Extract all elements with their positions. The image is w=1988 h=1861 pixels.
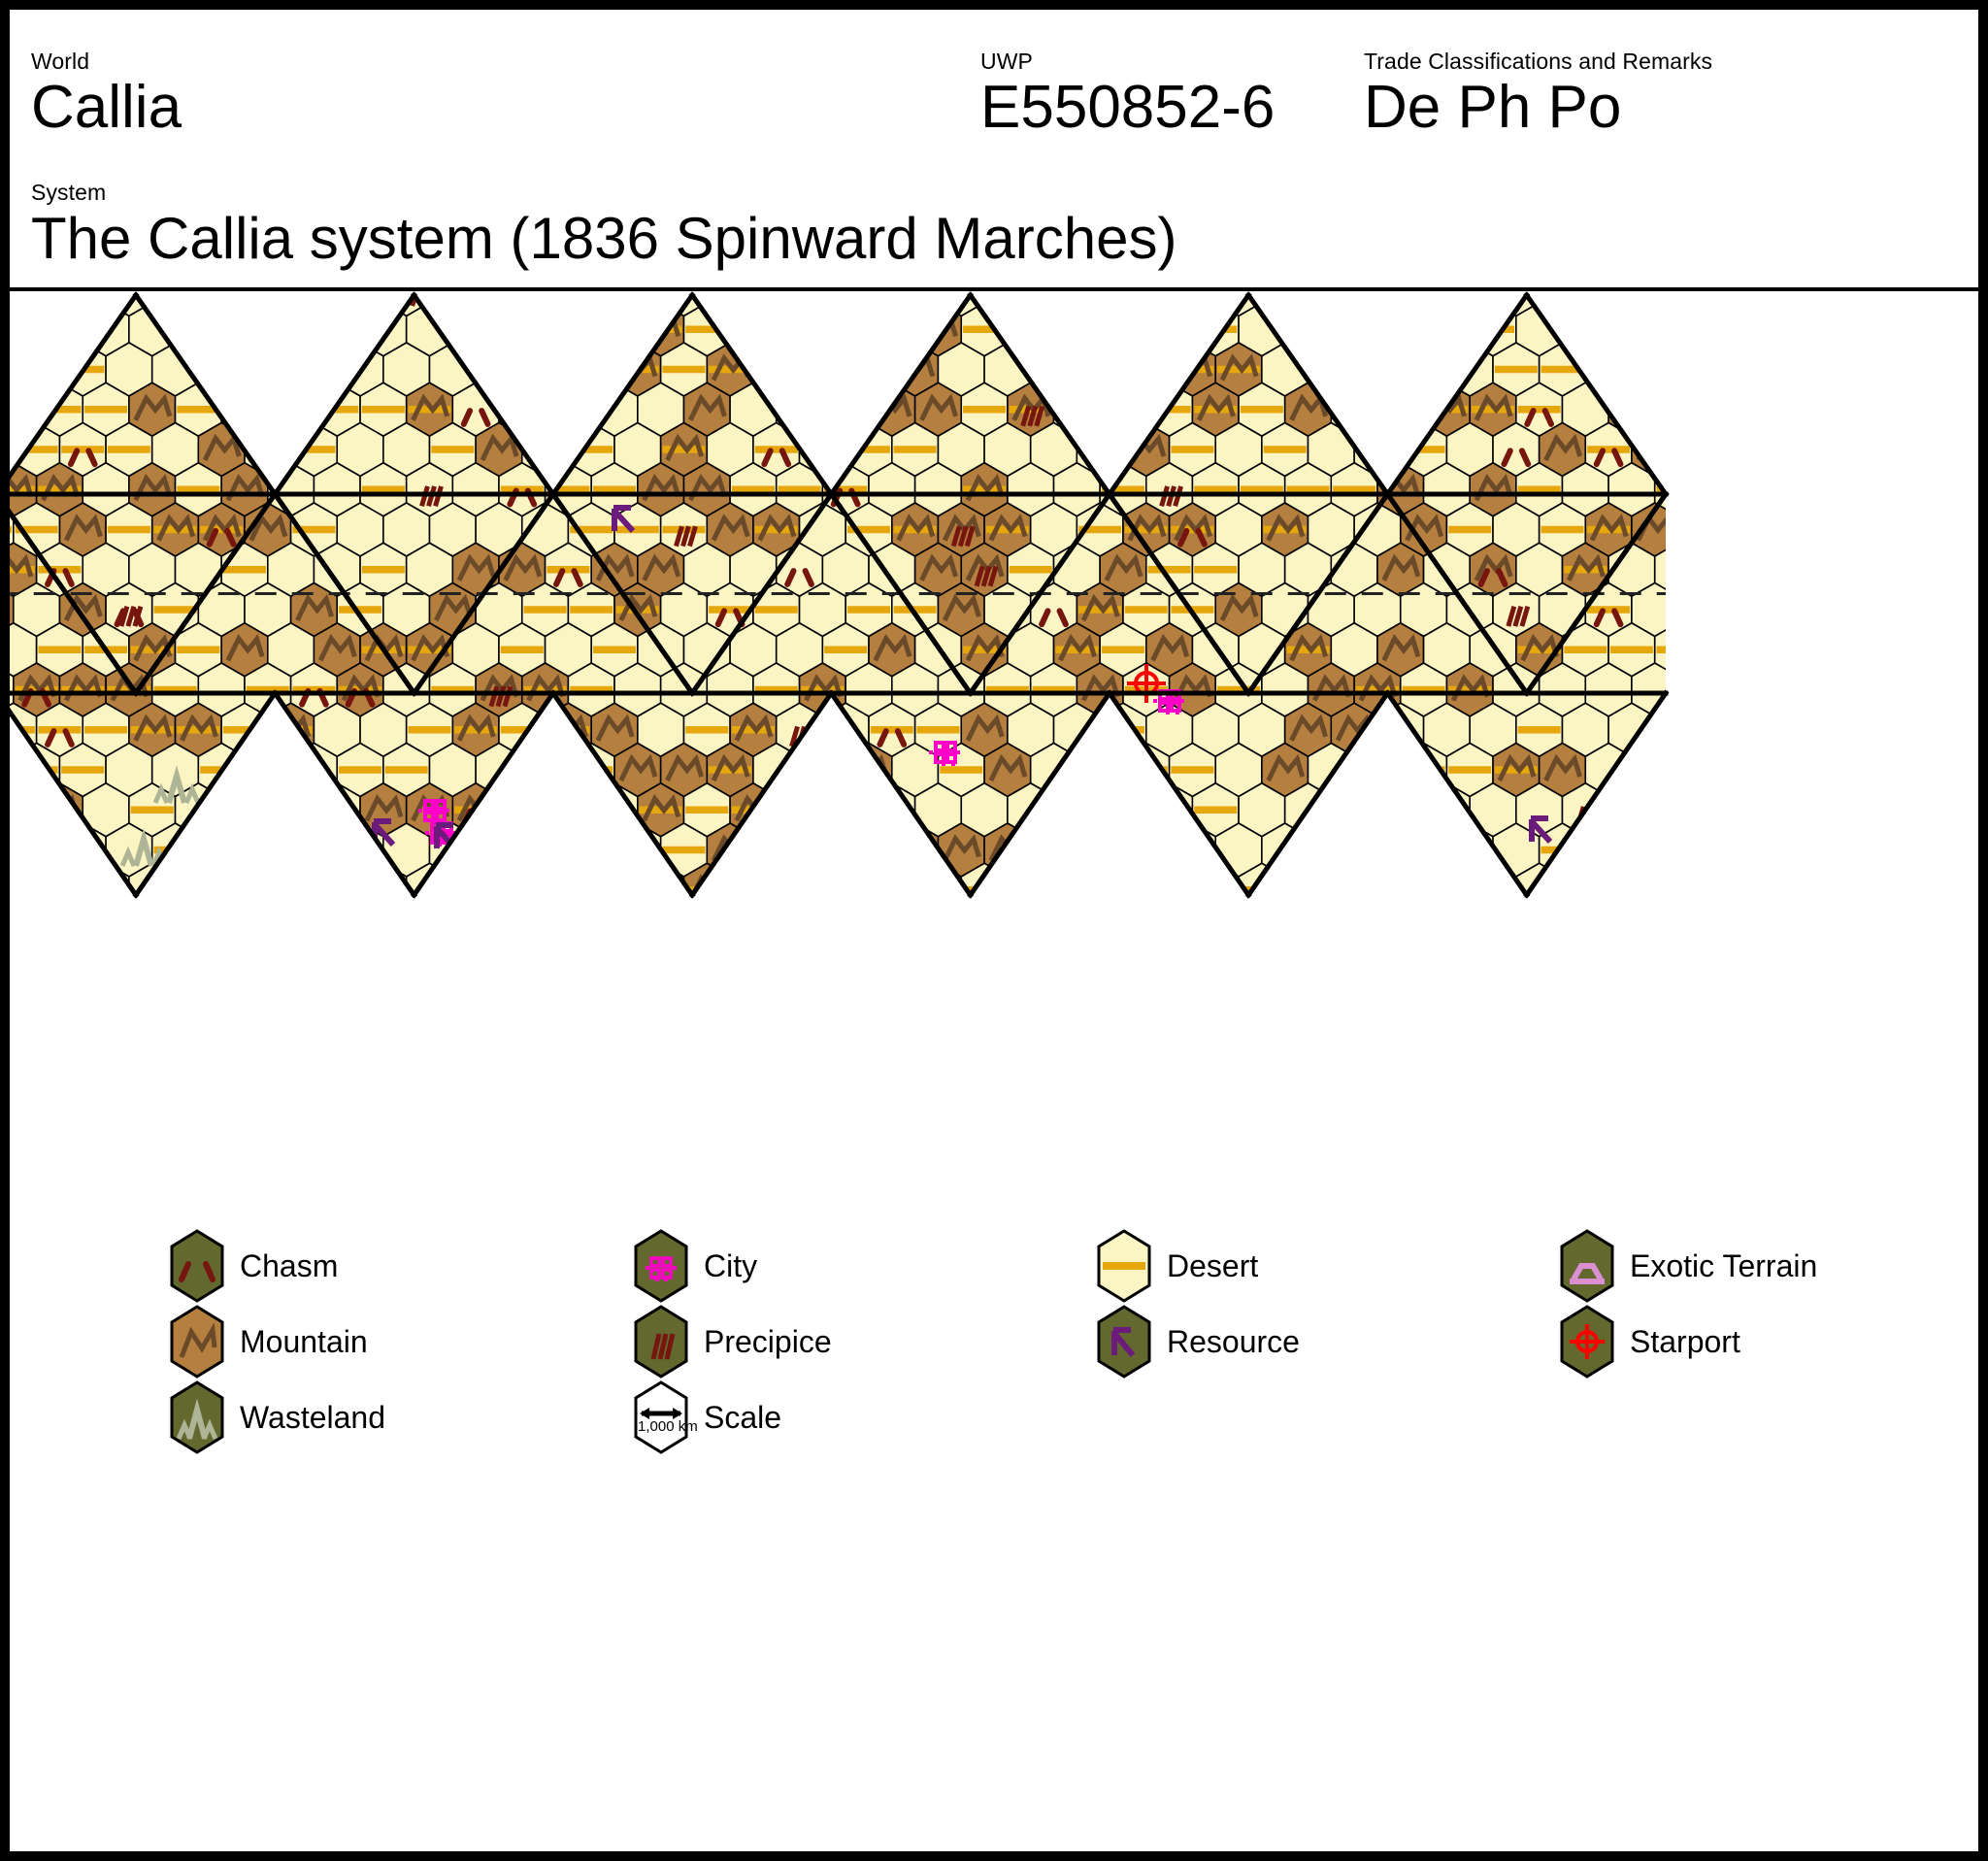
map-hex	[1562, 303, 1608, 356]
world-surface-map[interactable]	[10, 295, 1978, 1169]
precipice-icon	[914, 847, 920, 866]
map-hex	[0, 863, 37, 916]
map-hex	[1747, 543, 1794, 596]
map-hex	[245, 343, 291, 396]
chasm-icon	[1111, 812, 1117, 825]
map-hex	[14, 823, 60, 877]
map-hex	[1724, 423, 1771, 477]
precipice-icon	[0, 767, 2, 786]
map-hex	[1724, 503, 1771, 556]
mountain-icon	[275, 879, 309, 901]
chasm-icon	[1597, 290, 1603, 304]
map-hex	[1493, 904, 1540, 957]
chasm-icon	[255, 371, 261, 384]
map-hex	[1077, 744, 1123, 797]
chasm-icon	[1869, 891, 1874, 905]
map-hex	[1839, 382, 1886, 436]
mountain-icon	[1731, 918, 1765, 941]
legend-label-mountain: Mountain	[240, 1324, 368, 1359]
mountain-icon	[170, 1305, 224, 1379]
map-hex	[198, 343, 245, 396]
map-hex	[14, 343, 60, 396]
map-hex	[1146, 863, 1193, 916]
chasm-icon	[1776, 891, 1782, 905]
map-hex	[14, 904, 60, 957]
mountain-icon	[1107, 318, 1141, 341]
map-hex	[753, 904, 800, 957]
map-hex	[1100, 783, 1146, 837]
map-hex	[1401, 823, 1447, 877]
map-hex	[452, 303, 499, 356]
chasm-icon	[170, 1229, 224, 1303]
mountain-icon	[297, 839, 331, 861]
mountain-icon	[1083, 758, 1117, 781]
uwp-label: UWP	[980, 49, 1275, 74]
map-hex	[499, 863, 546, 916]
map-hex	[1678, 823, 1725, 877]
map-hex	[1771, 583, 1817, 637]
precipice-icon	[1832, 686, 1838, 706]
chasm-icon	[834, 411, 840, 424]
map-hex	[984, 904, 1031, 957]
scale-value: 1,000 km	[638, 1418, 698, 1435]
map-hex	[730, 863, 777, 916]
legend-swatch-starport	[1560, 1305, 1614, 1379]
map-hex	[1794, 783, 1840, 837]
mountain-icon	[0, 918, 8, 941]
map-hex	[1123, 904, 1170, 957]
mountain-icon	[1500, 918, 1534, 941]
city-icon	[1329, 1005, 1360, 1028]
map-hex	[1724, 663, 1771, 716]
map-hex	[546, 783, 592, 837]
map-hex	[614, 904, 661, 957]
chasm-icon	[441, 931, 447, 945]
precipice-icon	[197, 807, 203, 826]
mountain-icon	[1823, 438, 1857, 460]
map-hex	[1701, 863, 1747, 916]
map-hex	[1170, 904, 1216, 957]
precipice-icon	[1839, 447, 1844, 466]
chasm-icon	[481, 812, 487, 825]
chasm-icon	[1706, 851, 1712, 865]
map-hex	[522, 823, 569, 877]
city-icon	[193, 1066, 224, 1089]
mountain-icon	[1800, 398, 1834, 420]
precipice-icon	[1661, 927, 1667, 947]
mountain-icon	[1060, 799, 1094, 821]
chasm-icon	[343, 891, 348, 905]
trade-value: De Ph Po	[1364, 74, 1712, 142]
map-hex	[1008, 303, 1054, 356]
map-hex	[499, 303, 546, 356]
map-hex	[1308, 904, 1354, 957]
map-hex	[568, 823, 614, 877]
resource-icon	[1097, 1305, 1151, 1379]
map-hex	[0, 823, 14, 877]
map-hex	[1632, 343, 1678, 396]
map-hex	[245, 823, 291, 877]
map-hex	[1562, 863, 1608, 916]
map-hex	[1816, 823, 1863, 877]
page-header: World Callia UWP E550852-6 Trade Classif…	[10, 10, 1978, 291]
map-hex	[1100, 382, 1146, 436]
map-hex	[546, 303, 592, 356]
map-hex	[1077, 343, 1123, 396]
city-icon	[634, 1229, 688, 1303]
precipice-icon	[1577, 326, 1583, 346]
mountain-icon	[551, 799, 585, 821]
map-hex	[822, 783, 869, 837]
chasm-icon	[274, 371, 280, 384]
map-hex	[1678, 503, 1725, 556]
map-hex	[1839, 623, 1886, 677]
map-hex	[1794, 382, 1840, 436]
precipice-icon	[1845, 447, 1851, 466]
mountain-icon	[1615, 799, 1649, 821]
mountain-icon	[1731, 839, 1765, 861]
mountain-icon	[275, 318, 309, 341]
map-hex	[1608, 863, 1655, 916]
resource-icon	[1405, 930, 1424, 953]
map-hex	[1377, 863, 1424, 916]
legend-label-exotic-terrain: Exotic Terrain	[1630, 1248, 1817, 1283]
precipice-icon	[634, 1305, 688, 1379]
map-hex	[0, 783, 37, 837]
mountain-icon	[1639, 438, 1673, 460]
resource-icon	[706, 877, 725, 900]
map-hex	[522, 744, 569, 797]
chasm-icon	[366, 931, 372, 945]
map-hex	[1446, 904, 1493, 957]
map-hex	[1839, 863, 1886, 916]
map-hex	[1839, 783, 1886, 837]
mountain-icon	[1684, 839, 1718, 861]
mountain-icon	[782, 318, 816, 341]
map-hex	[1816, 904, 1863, 957]
map-hex	[1377, 303, 1424, 356]
map-hex	[1678, 904, 1725, 957]
legend-label-city: City	[704, 1248, 757, 1283]
map-hex	[0, 904, 14, 957]
chasm-icon	[1758, 891, 1764, 905]
legend-column-3: Exotic TerrainStarport	[1560, 1228, 1987, 1379]
legend-item-scale[interactable]: 1,000 kmScale	[634, 1379, 1061, 1455]
map-hex	[1771, 423, 1817, 477]
resource-icon	[829, 877, 848, 900]
map-hex	[268, 382, 315, 436]
legend-item-chasm[interactable]: Chasm	[170, 1228, 597, 1304]
map-hex	[1354, 904, 1401, 957]
city-icon	[1507, 995, 1538, 1018]
chasm-icon	[851, 411, 857, 424]
chasm-icon	[0, 371, 2, 384]
map-hex	[1585, 904, 1632, 957]
map-hex	[1354, 823, 1401, 877]
mountain-icon	[1777, 438, 1811, 460]
mountain-icon	[1338, 879, 1372, 901]
chasm-icon	[48, 891, 53, 905]
map-hex	[0, 744, 14, 797]
map-hex	[1771, 343, 1817, 396]
map-hex	[37, 303, 83, 356]
map-hex	[777, 303, 823, 356]
legend-swatch-precipice	[634, 1305, 688, 1379]
mountain-icon	[205, 358, 239, 381]
map-hex	[0, 303, 37, 356]
map-hex	[1724, 823, 1771, 877]
map-canvas[interactable]	[10, 295, 1978, 1169]
wasteland-icon	[182, 839, 225, 866]
map-hex	[1794, 863, 1840, 916]
mountain-icon	[760, 918, 794, 941]
chasm-icon	[348, 290, 354, 304]
legend-item-precipice[interactable]: Precipice	[634, 1304, 1061, 1379]
map-hex	[1655, 382, 1702, 436]
chasm-icon	[458, 931, 464, 945]
chasm-icon	[898, 891, 904, 905]
map-hex	[1771, 744, 1817, 797]
map-hex	[1608, 303, 1655, 356]
map-hex	[568, 904, 614, 957]
map-hex	[1632, 823, 1678, 877]
mountain-icon	[1754, 398, 1788, 420]
mountain-icon	[1684, 518, 1718, 541]
map-hex	[1655, 783, 1702, 837]
chasm-icon	[857, 771, 863, 784]
map-hex	[1008, 863, 1054, 916]
map-hex	[1747, 382, 1794, 436]
map-hex	[1585, 823, 1632, 877]
map-hex	[476, 343, 522, 396]
map-hex	[198, 904, 245, 957]
map-hex	[1816, 744, 1863, 797]
map-hex	[1146, 303, 1193, 356]
mountain-icon	[1384, 799, 1418, 821]
legend-item-exotic-terrain[interactable]: Exotic Terrain	[1560, 1228, 1987, 1304]
chasm-icon	[65, 891, 71, 905]
legend-swatch-resource	[1097, 1305, 1151, 1379]
field-system: System The Callia system (1836 Spinward …	[31, 180, 1176, 273]
legend-item-desert[interactable]: Desert	[1097, 1228, 1524, 1304]
map-hex	[777, 783, 823, 837]
chasm-icon	[1152, 290, 1158, 304]
map-hex	[1100, 303, 1146, 356]
chasm-icon	[1666, 812, 1672, 825]
chasm-icon	[366, 290, 372, 304]
map-hex	[1794, 463, 1840, 516]
precipice-icon	[1053, 847, 1059, 866]
map-hex	[845, 343, 892, 396]
map-hex	[106, 904, 152, 957]
mountain-icon	[0, 598, 8, 620]
legend-column-0: ChasmMountainWasteland	[170, 1228, 597, 1455]
chasm-icon	[1758, 812, 1764, 825]
map-hex	[1100, 863, 1146, 916]
legend-label-wasteland: Wasteland	[240, 1400, 385, 1435]
field-uwp: UWP E550852-6	[980, 49, 1275, 142]
map-hex	[1701, 382, 1747, 436]
map-hex	[291, 823, 338, 877]
map-hex	[1354, 744, 1401, 797]
map-hex	[1632, 744, 1678, 797]
map-hex	[1839, 303, 1886, 356]
map-hex	[1839, 463, 1886, 516]
precipice-icon	[1647, 927, 1653, 947]
legend-label-scale: Scale	[704, 1400, 781, 1435]
mountain-icon	[506, 879, 540, 901]
field-trade-classifications: Trade Classifications and Remarks De Ph …	[1364, 49, 1712, 142]
map-hex	[37, 863, 83, 916]
chasm-icon	[1781, 691, 1787, 705]
map-hex	[1077, 823, 1123, 877]
map-hex	[176, 863, 222, 916]
precipice-icon	[204, 807, 210, 826]
map-hex	[707, 904, 753, 957]
legend-swatch-exotic-terrain	[1560, 1229, 1614, 1303]
chasm-icon	[1129, 812, 1135, 825]
mountain-icon	[459, 879, 493, 901]
mountain-icon	[182, 879, 215, 901]
map-hex	[1377, 783, 1424, 837]
map-hex	[1262, 904, 1309, 957]
map-hex	[314, 863, 360, 916]
mountain-icon	[529, 839, 563, 861]
map-hex	[198, 823, 245, 877]
mountain-icon	[1130, 918, 1164, 941]
trade-label: Trade Classifications and Remarks	[1364, 49, 1712, 74]
legend-item-wasteland[interactable]: Wasteland	[170, 1379, 597, 1455]
map-hex	[152, 904, 199, 957]
precipice-icon	[1832, 447, 1838, 466]
precipice-icon	[1845, 686, 1851, 706]
map-hex	[1678, 744, 1725, 797]
chasm-icon	[1851, 891, 1857, 905]
map-hex	[245, 744, 291, 797]
map-hex	[1701, 463, 1747, 516]
map-hex	[591, 303, 638, 356]
map-hex	[892, 904, 939, 957]
map-hex	[1377, 382, 1424, 436]
legend-item-city[interactable]: City	[634, 1228, 1061, 1304]
map-hex	[1215, 904, 1262, 957]
mountain-icon	[667, 918, 701, 941]
map-hex	[822, 863, 869, 916]
mountain-icon	[0, 318, 31, 341]
map-hex	[753, 823, 800, 877]
map-hex	[1771, 503, 1817, 556]
map-hex	[499, 783, 546, 837]
map-hex	[1747, 863, 1794, 916]
chasm-icon	[1851, 491, 1857, 505]
map-hex	[1031, 823, 1077, 877]
map-hex	[1794, 623, 1840, 677]
uwp-value: E550852-6	[980, 74, 1275, 142]
map-hex	[1077, 904, 1123, 957]
mountain-icon	[1754, 639, 1788, 661]
map-hex	[1794, 543, 1840, 596]
mountain-icon	[1777, 518, 1811, 541]
mountain-icon	[0, 839, 8, 861]
mountain-icon	[1754, 879, 1788, 901]
map-hex	[800, 744, 846, 797]
mountain-icon	[899, 839, 933, 861]
map-hex	[591, 863, 638, 916]
mountain-icon	[205, 918, 239, 941]
map-hex	[59, 904, 106, 957]
mountain-icon	[0, 799, 31, 821]
mountain-icon	[1615, 879, 1649, 901]
map-hex	[845, 904, 892, 957]
mountain-icon	[1777, 839, 1811, 861]
map-hex	[1724, 904, 1771, 957]
world-map-page: World Callia UWP E550852-6 Trade Classif…	[0, 0, 1988, 1861]
legend-swatch-chasm	[170, 1229, 224, 1303]
mountain-icon	[1639, 758, 1673, 781]
map-hex	[753, 343, 800, 396]
legend-item-resource[interactable]: Resource	[1097, 1304, 1524, 1379]
map-hex	[1771, 663, 1817, 716]
legend-swatch-city	[634, 1229, 688, 1303]
precipice-icon	[1046, 847, 1052, 866]
precipice-icon	[1591, 807, 1597, 826]
map-hex	[268, 783, 315, 837]
map-hex	[1608, 783, 1655, 837]
map-hex	[1655, 703, 1702, 756]
legend-item-mountain[interactable]: Mountain	[170, 1304, 597, 1379]
map-hex	[1308, 823, 1354, 877]
map-hex	[1747, 303, 1794, 356]
mountain-icon	[228, 318, 262, 341]
map-hex	[822, 303, 869, 356]
map-hex	[291, 343, 338, 396]
mountain-icon	[1408, 358, 1441, 381]
map-hex	[1054, 863, 1101, 916]
precipice-icon	[1654, 927, 1660, 947]
map-hex	[546, 863, 592, 916]
map-hex	[1331, 783, 1377, 837]
map-hex	[869, 303, 915, 356]
mountain-icon	[1846, 398, 1880, 420]
legend-item-starport[interactable]: Starport	[1560, 1304, 1987, 1379]
map-hex	[1747, 703, 1794, 756]
chasm-icon	[274, 771, 280, 784]
mountain-icon	[0, 358, 8, 381]
mountain-icon	[1384, 879, 1418, 901]
mountain-icon	[1661, 398, 1695, 420]
mountain-icon	[1800, 318, 1834, 341]
chasm-icon	[1689, 371, 1695, 384]
map-hex	[1401, 343, 1447, 396]
map-hex	[568, 343, 614, 396]
mountain-icon	[1545, 918, 1579, 941]
chasm-icon	[366, 851, 372, 865]
map-hex	[1354, 343, 1401, 396]
map-hex	[546, 382, 592, 436]
exotic-icon	[1069, 1013, 1102, 1028]
mountain-icon	[275, 799, 309, 821]
map-hex	[1331, 863, 1377, 916]
precipice-icon	[1060, 847, 1066, 866]
map-hex	[845, 823, 892, 877]
map-hex	[0, 423, 14, 477]
map-hex	[1123, 343, 1170, 396]
map-hex	[1424, 303, 1471, 356]
wasteland-icon	[170, 1380, 224, 1454]
map-hex	[0, 343, 14, 396]
city-icon	[781, 1113, 812, 1137]
map-hex	[1285, 303, 1332, 356]
